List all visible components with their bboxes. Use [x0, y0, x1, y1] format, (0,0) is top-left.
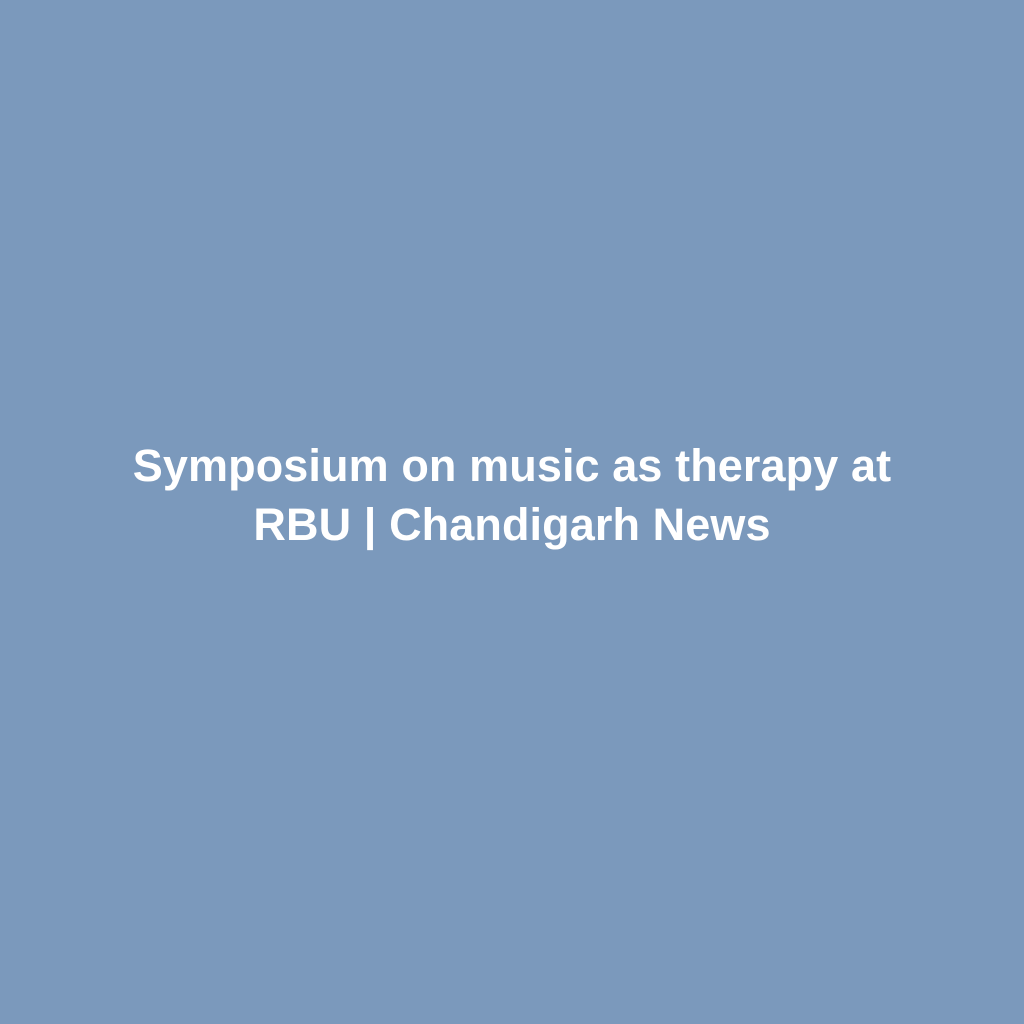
- headline-block: Symposium on music as therapy at RBU | C…: [97, 436, 927, 554]
- page-title: Symposium on music as therapy at RBU | C…: [97, 436, 927, 554]
- placeholder-card: Symposium on music as therapy at RBU | C…: [0, 0, 1024, 1024]
